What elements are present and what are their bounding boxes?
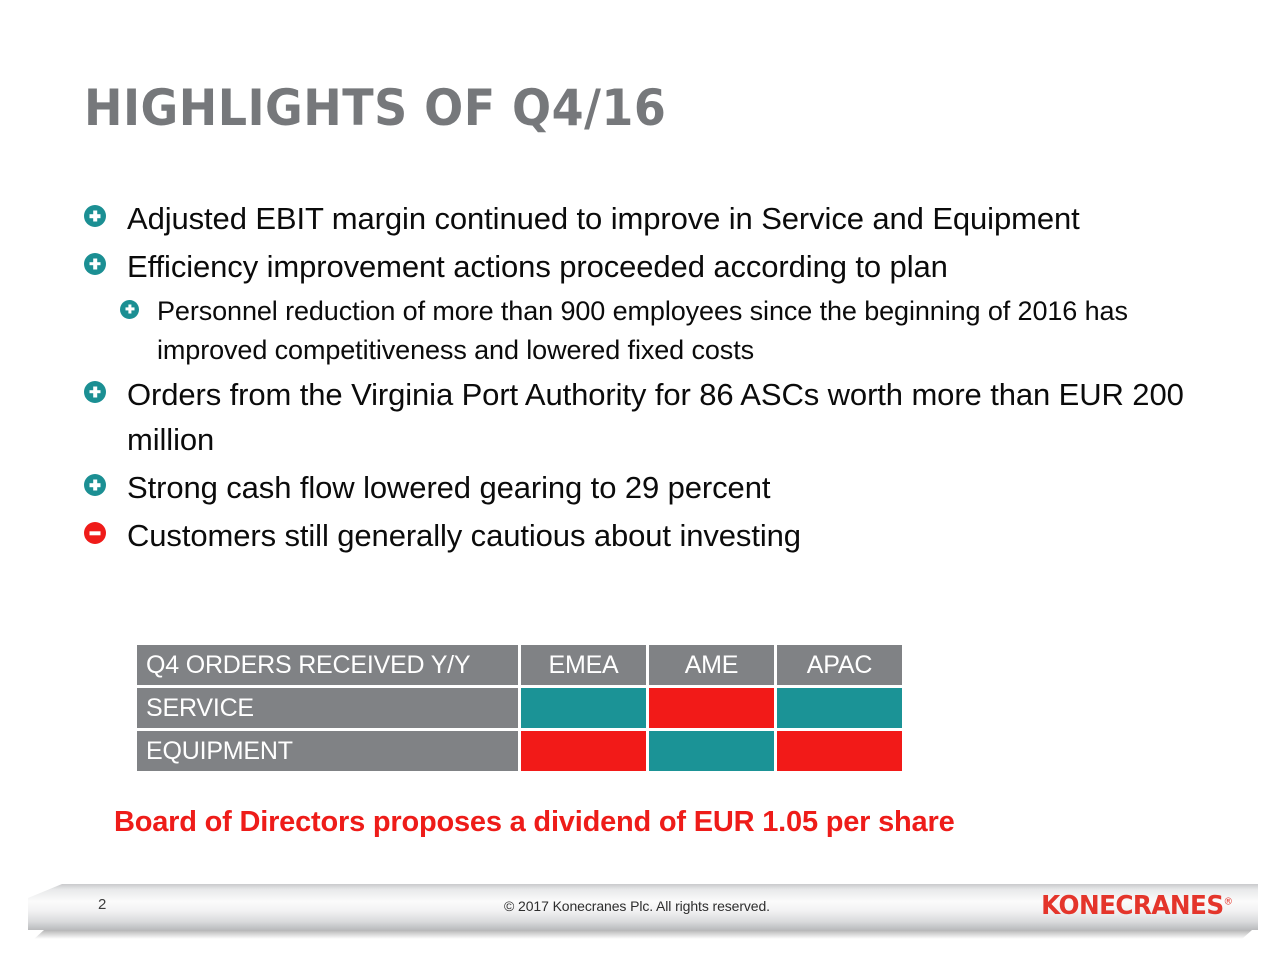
matrix-column-ame: AME [649,645,774,685]
matrix-row-label: SERVICE [137,688,518,728]
plus-circle-icon [84,205,106,227]
bullet-item: Strong cash flow lowered gearing to 29 p… [84,465,1214,511]
bullet-item: Adjusted EBIT margin continued to improv… [84,196,1214,242]
matrix-cell-equipment-apac [777,731,902,771]
sub-bullet-text: Personnel reduction of more than 900 emp… [157,292,1214,370]
matrix-cell-service-emea [521,688,646,728]
footer-bar: 2 © 2017 Konecranes Plc. All rights rese… [16,884,1258,930]
bullet-item: Orders from the Virginia Port Authority … [84,372,1214,464]
bullet-text: Strong cash flow lowered gearing to 29 p… [127,465,770,511]
matrix-cell-equipment-emea [521,731,646,771]
bullet-text: Efficiency improvement actions proceeded… [127,244,948,290]
matrix-column-emea: EMEA [521,645,646,685]
bullet-item: Efficiency improvement actions proceeded… [84,244,1214,290]
plus-circle-icon [84,253,106,275]
sub-bullet-item: Personnel reduction of more than 900 emp… [84,292,1214,370]
konecranes-logo: KONECRANES® [1041,891,1232,921]
page-title: HIGHLIGHTS OF Q4/16 [84,82,666,135]
bullet-text: Adjusted EBIT margin continued to improv… [127,196,1080,242]
matrix-row-label: EQUIPMENT [137,731,518,771]
matrix-cell-service-ame [649,688,774,728]
bullet-item: Customers still generally cautious about… [84,513,1214,559]
matrix-row-equipment: EQUIPMENT [137,731,909,771]
bullet-text: Orders from the Virginia Port Authority … [127,372,1214,464]
minus-circle-icon [84,522,106,544]
bullet-list: Adjusted EBIT margin continued to improv… [84,196,1214,561]
plus-circle-icon [120,300,139,319]
logo-wordmark: KONECRANES [1041,891,1223,921]
dividend-statement: Board of Directors proposes a dividend o… [114,806,955,839]
matrix-title-cell: Q4 ORDERS RECEIVED Y/Y [137,645,518,685]
plus-circle-icon [84,474,106,496]
slide-footer: 2 © 2017 Konecranes Plc. All rights rese… [0,884,1280,960]
orders-received-matrix: Q4 ORDERS RECEIVED Y/Y EMEA AME APAC SER… [137,645,909,771]
matrix-cell-service-apac [777,688,902,728]
matrix-cell-equipment-ame [649,731,774,771]
matrix-header-row: Q4 ORDERS RECEIVED Y/Y EMEA AME APAC [137,645,909,685]
registered-trademark-icon: ® [1223,896,1232,907]
bullet-text: Customers still generally cautious about… [127,513,801,559]
footer-bar-shadow [30,930,1252,939]
matrix-column-apac: APAC [777,645,902,685]
matrix-row-service: SERVICE [137,688,909,728]
plus-circle-icon [84,381,106,403]
